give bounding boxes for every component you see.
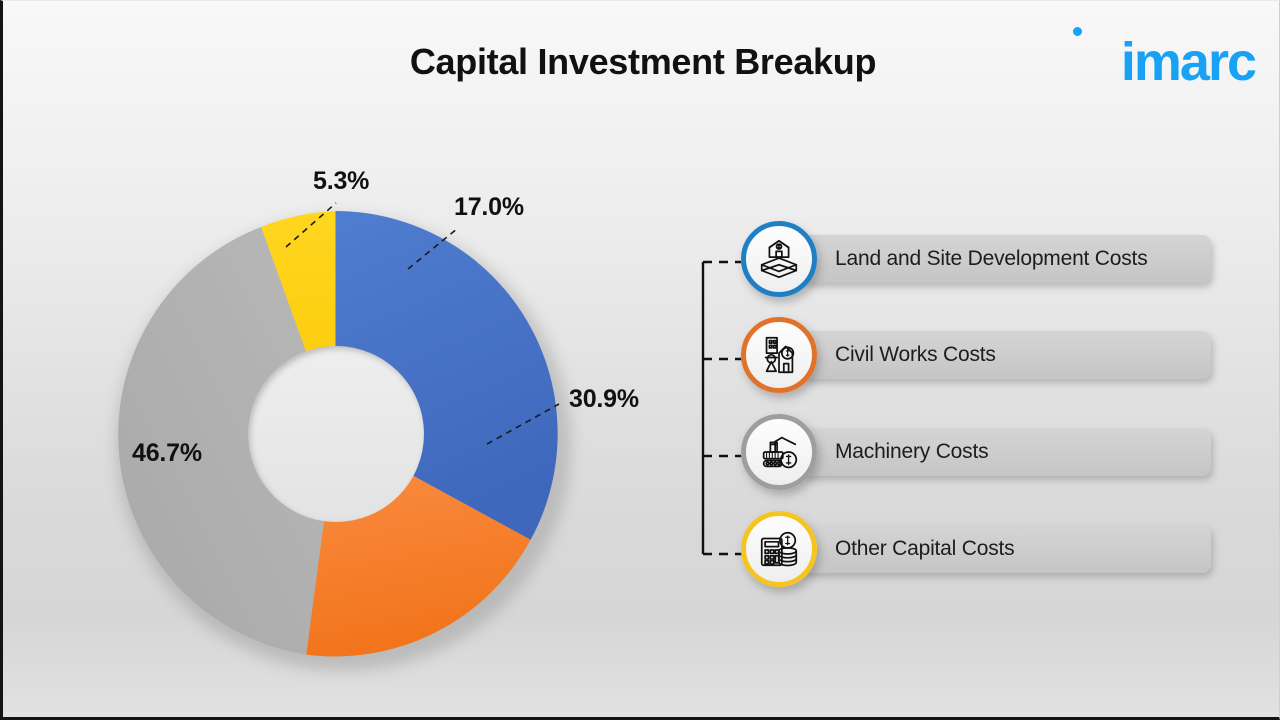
label-civil-works-costs-pct: 30.9% (569, 385, 639, 414)
legend-label-3: Machinery Costs (835, 440, 988, 464)
label-machinery-costs-pct: 46.7% (132, 439, 202, 468)
slide-canvas: Capital Investment Breakup imarc (0, 0, 1280, 720)
legend-badge-4 (741, 511, 817, 587)
legend-item-land-and-site-development-costs[interactable]: Land and Site Development Costs (741, 218, 1211, 300)
donut-chart (108, 206, 563, 661)
legend-badge-3 (741, 414, 817, 490)
legend-item-other-capital-costs[interactable]: Other Capital Costs (741, 508, 1211, 590)
logo-wordmark: imarc (1065, 35, 1255, 89)
legend: Land and Site Development Costs (693, 216, 1213, 586)
label-land-and-site-development-costs-pct: 17.0% (454, 193, 524, 222)
imarc-logo: imarc (1065, 15, 1255, 93)
legend-pill-2[interactable]: Civil Works Costs (801, 331, 1211, 379)
legend-label-2: Civil Works Costs (835, 343, 996, 367)
legend-badge-2 (741, 317, 817, 393)
legend-pill-3[interactable]: Machinery Costs (801, 428, 1211, 476)
label-other-capital-costs-pct: 5.3% (313, 167, 369, 196)
legend-pill-4[interactable]: Other Capital Costs (801, 525, 1211, 573)
donut-hole (248, 346, 424, 522)
land-money-stack-icon (756, 236, 802, 282)
legend-pill-1[interactable]: Land and Site Development Costs (801, 235, 1211, 283)
excavator-dollar-icon (756, 429, 802, 475)
construction-worker-gear-icon (756, 332, 802, 378)
legend-item-civil-works-costs[interactable]: Civil Works Costs (741, 314, 1211, 396)
legend-label-4: Other Capital Costs (835, 537, 1014, 561)
legend-label-1: Land and Site Development Costs (835, 247, 1148, 271)
legend-item-machinery-costs[interactable]: Machinery Costs (741, 411, 1211, 493)
legend-badge-1 (741, 221, 817, 297)
calculator-coins-icon (756, 526, 802, 572)
